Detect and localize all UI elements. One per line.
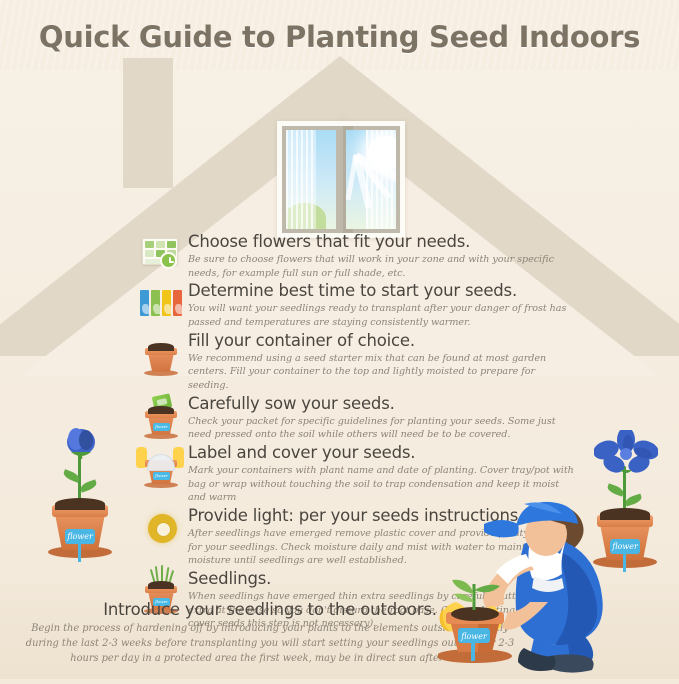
filled-pot-icon <box>136 331 184 377</box>
blue-flower-open-icon <box>594 430 658 476</box>
seed-catalog-icon <box>136 232 184 278</box>
step-body: Be sure to choose flowers that will work… <box>188 253 576 280</box>
page-title: Quick Guide to Planting Seed Indoors <box>0 20 679 54</box>
step-body: We recommend using a seed starter mix th… <box>188 352 576 393</box>
window-pane-left <box>286 130 336 229</box>
gardener-figure: flower <box>438 498 638 679</box>
light-ring <box>148 514 177 543</box>
pot-soil <box>148 406 174 414</box>
list-item: Choose flowers that fit your needs. Be s… <box>136 232 576 280</box>
pot-body <box>148 353 174 372</box>
step-heading: Fill your container of choice. <box>188 331 576 351</box>
pot-label-tag: flower <box>153 423 170 431</box>
window-sheer-curtain <box>286 130 316 229</box>
step-heading: Choose flowers that fit your needs. <box>188 232 576 252</box>
plant-leaf <box>79 479 98 492</box>
sun-ray <box>346 154 358 200</box>
gloves-covered-pot-icon: flower <box>136 443 184 489</box>
window-sheer-curtain <box>366 130 396 229</box>
pot-label-tag: flower <box>65 529 95 544</box>
pot-soil <box>148 343 174 351</box>
list-item: flower Label and cover your seeds. Mark … <box>136 443 576 505</box>
plastic-cover <box>147 454 175 471</box>
pot-soil <box>148 581 174 589</box>
packet-row <box>140 290 182 316</box>
seed-packets-icon <box>136 281 184 327</box>
step-body: Check your packet for specific guideline… <box>188 415 576 442</box>
list-item: Fill your container of choice. We recomm… <box>136 331 576 393</box>
left-flower-pot: flower <box>45 418 115 558</box>
blue-flower-bud-icon <box>59 426 103 460</box>
list-item: Determine best time to start your seeds.… <box>136 281 576 329</box>
clock-badge-icon <box>160 252 177 269</box>
sun-beam <box>323 130 336 137</box>
gardener-illustration: flower <box>438 498 638 679</box>
step-heading: Carefully sow your seeds. <box>188 394 576 414</box>
step-body: You will want your seedlings ready to tr… <box>188 302 576 329</box>
pot-label-tag: flower <box>153 472 170 480</box>
step-heading: Determine best time to start your seeds. <box>188 281 576 301</box>
pot-soil <box>55 498 105 510</box>
infographic-poster: Quick Guide to Planting Seed Indoors Cho… <box>0 0 679 679</box>
window-pane-right <box>346 130 396 229</box>
step-heading: Label and cover your seeds. <box>188 443 576 463</box>
list-item: flower Carefully sow your seeds. Check y… <box>136 394 576 442</box>
svg-text:flower: flower <box>460 632 488 641</box>
window-icon <box>277 121 405 238</box>
light-ring-icon <box>136 506 184 552</box>
sowing-seeds-icon: flower <box>136 394 184 440</box>
